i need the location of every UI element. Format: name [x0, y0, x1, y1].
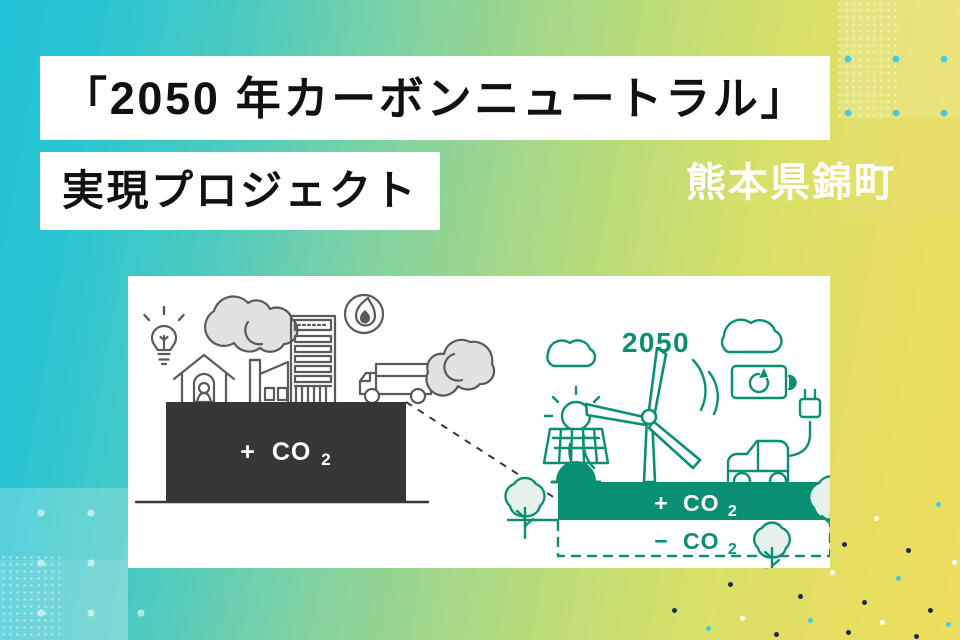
confetti-dot: [808, 618, 813, 623]
confetti-dot: [880, 620, 885, 625]
confetti-dot: [914, 634, 919, 639]
confetti-dot: [896, 576, 901, 581]
truck-icon: [360, 364, 431, 403]
confetti-dot: [672, 608, 677, 613]
tree-icon: [754, 523, 790, 568]
house-icon: [174, 355, 234, 404]
left-co2-label: + CO 2: [240, 438, 331, 469]
confetti-dot: [830, 570, 835, 575]
page-title-line1: 「2050 年カーボンニュートラル」: [62, 76, 808, 121]
solar-panel-icon: [544, 387, 608, 482]
confetti-dot: [946, 622, 951, 627]
town-name-label: 熊本県錦町: [686, 163, 896, 203]
right-absorb-label: − CO 2: [654, 528, 738, 558]
electric-car-icon: [728, 390, 820, 489]
confetti-dot: [846, 630, 851, 635]
flame-icon: [345, 295, 383, 333]
right-emit-sign: +: [654, 490, 668, 516]
right-absorb-sign: −: [654, 528, 668, 554]
right-absorb-molecule: CO: [683, 528, 720, 554]
left-co2-sign: +: [240, 438, 256, 466]
confetti-dot: [928, 608, 933, 613]
right-emit-subscript: 2: [728, 503, 738, 520]
carbon-neutral-illustration: + CO 2 2050: [128, 276, 830, 568]
confetti-dot: [952, 560, 957, 565]
cloud-icon: [547, 340, 595, 366]
smoke-cloud-icon: [426, 340, 494, 396]
title-band-secondary: 実現プロジェクト: [40, 152, 440, 230]
page-title-line2: 実現プロジェクト: [62, 170, 418, 212]
right-absorb-subscript: 2: [728, 541, 738, 558]
smoke-cloud-icon: [205, 296, 297, 351]
confetti-dot: [798, 594, 803, 599]
left-co2-subscript: 2: [321, 450, 331, 469]
left-scene-group: [136, 295, 494, 502]
confetti-dot: [906, 548, 911, 553]
cloud-icon: [722, 320, 781, 352]
confetti-dot: [862, 600, 867, 605]
confetti-dot: [728, 582, 733, 587]
lightbulb-icon: [145, 307, 184, 364]
tree-icon: [506, 478, 545, 538]
confetti-dot: [936, 502, 941, 507]
confetti-dot: [842, 542, 847, 547]
confetti-dot: [740, 616, 745, 621]
right-emit-label: + CO 2: [654, 490, 738, 520]
title-band-primary: 「2050 年カーボンニュートラル」: [40, 56, 830, 140]
confetti-dot: [874, 516, 879, 521]
left-co2-molecule: CO: [272, 438, 312, 466]
illustration-card: + CO 2 2050: [128, 276, 830, 568]
right-emit-molecule: CO: [683, 490, 720, 516]
poster: 「2050 年カーボンニュートラル」 実現プロジェクト 熊本県錦町: [0, 0, 960, 640]
battery-recharge-icon: [732, 366, 796, 398]
confetti-dot: [706, 626, 711, 631]
factory-icon: [250, 360, 288, 404]
dot-grid-top-right: [814, 24, 960, 146]
office-building-icon: [291, 316, 335, 404]
confetti-dot: [774, 632, 779, 637]
